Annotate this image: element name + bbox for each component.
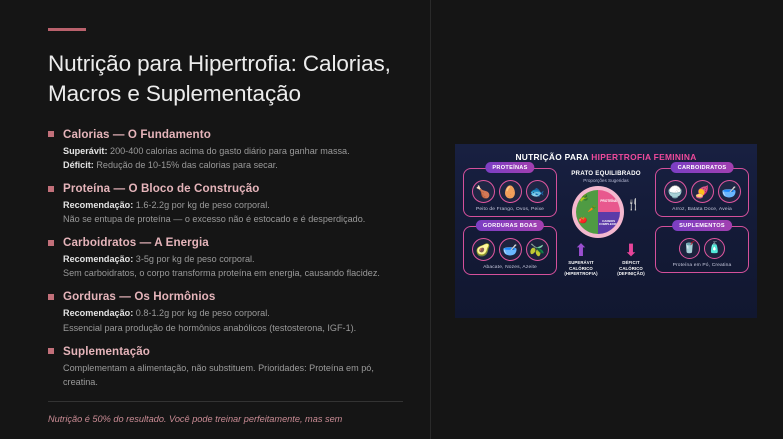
- line-label: Recomendação:: [63, 254, 133, 264]
- section-heading: Gorduras — Os Hormônios: [63, 290, 215, 303]
- line-label: Recomendação:: [63, 308, 133, 318]
- infographic-title-highlight: HIPERTROFIA FEMININA: [591, 152, 696, 162]
- section-body: Complementam a alimentação, não substitu…: [48, 361, 400, 389]
- panel-tag: GORDURAS BOAS: [476, 220, 544, 231]
- panel-caption: Peito de Frango, Ovos, Peixe: [468, 207, 552, 212]
- bullet-square-icon: [48, 240, 54, 246]
- panel-tag: CARBOIDRATOS: [671, 162, 734, 173]
- icon-row: 🍗 🥚 🐟: [468, 180, 552, 203]
- arrow-deficit: ⬇ DÉFICIT CALÓRICO (DEFINIÇÃO): [610, 242, 652, 277]
- panel-caption: Arroz, Batata Doce, Aveia: [660, 207, 744, 212]
- arrow-label: DÉFICIT CALÓRICO (DEFINIÇÃO): [610, 260, 652, 277]
- line-text: Complementam a alimentação, não substitu…: [63, 363, 374, 387]
- arrow-down-icon: ⬇: [610, 242, 652, 259]
- section-line: Déficit: Redução de 10-15% das calorias …: [63, 158, 400, 172]
- infographic-column-center: PRATO EQUILIBRADO Proporções Sugeridas 🥦…: [558, 168, 654, 305]
- footer-quote: Nutrição é 50% do resultado. Você pode t…: [48, 412, 398, 427]
- section-header: Carboidratos — A Energia: [48, 236, 400, 249]
- infographic-column-right: CARBOIDRATOS 🍚 🍠 🥣 Arroz, Batata Doce, A…: [655, 168, 749, 305]
- section-line: Recomendação: 1.6-2.2g por kg de peso co…: [63, 198, 400, 212]
- section-header: Calorias — O Fundamento: [48, 128, 400, 141]
- panel-suplementos: SUPLEMENTOS 🥤 🧴 Proteína em Pó, Creatina: [655, 226, 749, 273]
- footer-divider: [48, 401, 403, 402]
- bullet-square-icon: [48, 348, 54, 354]
- section-line: Não se entupa de proteína — o excesso nã…: [63, 212, 400, 226]
- fork-knife-icon: 🍴: [627, 198, 641, 211]
- section-heading: Carboidratos — A Energia: [63, 236, 209, 249]
- tomato-icon: 🍅: [579, 217, 588, 224]
- line-text: Sem carboidratos, o corpo transforma pro…: [63, 268, 380, 278]
- infographic-column-left: PROTEÍNAS 🍗 🥚 🐟 Peito de Frango, Ovos, P…: [463, 168, 557, 305]
- icon-row: 🍚 🍠 🥣: [660, 180, 744, 203]
- section-line: Superávit: 200-400 calorias acima do gas…: [63, 144, 400, 158]
- section-line: Complementam a alimentação, não substitu…: [63, 361, 400, 389]
- section-gorduras: Gorduras — Os Hormônios Recomendação: 0.…: [48, 290, 400, 334]
- section-heading: Calorias — O Fundamento: [63, 128, 211, 141]
- section-line: Recomendação: 0.8-1.2g por kg de peso co…: [63, 306, 400, 320]
- plate-row: 🥦 🥕 🍅 PROTEÍNA CARBOS COMPLEXOS: [558, 186, 654, 238]
- plate-right: PROTEÍNA CARBOS COMPLEXOS: [598, 190, 620, 234]
- plate-segment-carbs: CARBOS COMPLEXOS: [598, 212, 620, 234]
- slide-root: Nutrição para Hipertrofia: Calorias, Mac…: [0, 0, 783, 439]
- section-calorias: Calorias — O Fundamento Superávit: 200-4…: [48, 128, 400, 172]
- line-text: Não se entupa de proteína — o excesso nã…: [63, 214, 365, 224]
- fish-icon: 🐟: [526, 180, 549, 203]
- panel-tag: SUPLEMENTOS: [672, 220, 732, 231]
- section-body: Recomendação: 3-5g por kg de peso corpor…: [48, 252, 400, 280]
- line-label: Recomendação:: [63, 200, 133, 210]
- infographic-canvas: NUTRIÇÃO PARA HIPERTROFIA FEMININA PROTE…: [455, 144, 757, 318]
- content-column: Nutrição para Hipertrofia: Calorias, Mac…: [0, 0, 430, 439]
- infographic-title: NUTRIÇÃO PARA HIPERTROFIA FEMININA: [455, 152, 757, 162]
- section-carboidratos: Carboidratos — A Energia Recomendação: 3…: [48, 236, 400, 280]
- panel-caption: Proteína em Pó, Creatina: [660, 263, 744, 268]
- panel-gorduras: GORDURAS BOAS 🥑 🥣 🫒 Abacate, Nozes, Azei…: [463, 226, 557, 275]
- line-text: 200-400 calorias acima do gasto diário p…: [107, 146, 349, 156]
- arrow-row: ⬆ SUPERÁVIT CALÓRICO (HIPERTROFIA) ⬇ DÉF…: [558, 242, 654, 277]
- chicken-drumstick-icon: 🍗: [472, 180, 495, 203]
- section-proteina: Proteína — O Bloco de Construção Recomen…: [48, 182, 400, 226]
- line-text: 1.6-2.2g por kg de peso corporal.: [133, 200, 270, 210]
- olive-oil-icon: 🫒: [526, 238, 549, 261]
- arrow-superavit: ⬆ SUPERÁVIT CALÓRICO (HIPERTROFIA): [560, 242, 602, 277]
- plate-subtitle: Proporções Sugeridas: [558, 178, 654, 183]
- section-line: Recomendação: 3-5g por kg de peso corpor…: [63, 252, 400, 266]
- infographic-grid: PROTEÍNAS 🍗 🥚 🐟 Peito de Frango, Ovos, P…: [455, 162, 757, 305]
- section-suplementacao: Suplementação Complementam a alimentação…: [48, 345, 400, 389]
- section-heading: Suplementação: [63, 345, 150, 358]
- section-body: Recomendação: 0.8-1.2g por kg de peso co…: [48, 306, 400, 334]
- panel-proteinas: PROTEÍNAS 🍗 🥚 🐟 Peito de Frango, Ovos, P…: [463, 168, 557, 217]
- page-title: Nutrição para Hipertrofia: Calorias, Mac…: [48, 49, 400, 109]
- icon-row: 🥑 🥣 🫒: [468, 238, 552, 261]
- line-text: Redução de 10-15% das calorias para seca…: [94, 160, 278, 170]
- arrow-label: SUPERÁVIT CALÓRICO (HIPERTROFIA): [560, 260, 602, 277]
- accent-bar: [48, 28, 86, 31]
- line-text: 3-5g por kg de peso corporal.: [133, 254, 254, 264]
- sweet-potato-icon: 🍠: [691, 180, 714, 203]
- nuts-bowl-icon: 🥣: [499, 238, 522, 261]
- section-line: Sem carboidratos, o corpo transforma pro…: [63, 266, 400, 280]
- plate-segment-vegetables: 🥦 🥕 🍅: [576, 190, 598, 234]
- panel-carboidratos: CARBOIDRATOS 🍚 🍠 🥣 Arroz, Batata Doce, A…: [655, 168, 749, 217]
- plate-title: PRATO EQUILIBRADO: [558, 170, 654, 177]
- section-heading: Proteína — O Bloco de Construção: [63, 182, 259, 195]
- section-list: Calorias — O Fundamento Superávit: 200-4…: [48, 128, 400, 389]
- oats-bowl-icon: 🥣: [718, 180, 741, 203]
- infographic-image: NUTRIÇÃO PARA HIPERTROFIA FEMININA PROTE…: [455, 144, 757, 318]
- panel-tag: PROTEÍNAS: [485, 162, 534, 173]
- avocado-icon: 🥑: [472, 238, 495, 261]
- plate-inner: 🥦 🥕 🍅 PROTEÍNA CARBOS COMPLEXOS: [576, 190, 620, 234]
- section-header: Gorduras — Os Hormônios: [48, 290, 400, 303]
- carrot-icon: 🥕: [588, 206, 597, 213]
- broccoli-icon: 🥦: [580, 195, 589, 202]
- rice-bowl-icon: 🍚: [664, 180, 687, 203]
- plate-segment-protein: PROTEÍNA: [598, 190, 620, 212]
- balanced-plate-icon: 🥦 🥕 🍅 PROTEÍNA CARBOS COMPLEXOS: [572, 186, 624, 238]
- line-label: Superávit:: [63, 146, 107, 156]
- line-label: Déficit:: [63, 160, 94, 170]
- bullet-square-icon: [48, 131, 54, 137]
- section-header: Proteína — O Bloco de Construção: [48, 182, 400, 195]
- infographic-title-main: NUTRIÇÃO PARA: [515, 152, 591, 162]
- line-text: Essencial para produção de hormônios ana…: [63, 323, 356, 333]
- panel-caption: Abacate, Nozes, Azeite: [468, 265, 552, 270]
- bullet-square-icon: [48, 186, 54, 192]
- bullet-square-icon: [48, 294, 54, 300]
- creatine-jar-icon: 🧴: [704, 238, 725, 259]
- section-body: Recomendação: 1.6-2.2g por kg de peso co…: [48, 198, 400, 226]
- protein-powder-icon: 🥤: [679, 238, 700, 259]
- section-body: Superávit: 200-400 calorias acima do gas…: [48, 144, 400, 172]
- section-line: Essencial para produção de hormônios ana…: [63, 321, 400, 335]
- eggs-icon: 🥚: [499, 180, 522, 203]
- section-header: Suplementação: [48, 345, 400, 358]
- media-column: NUTRIÇÃO PARA HIPERTROFIA FEMININA PROTE…: [430, 0, 783, 439]
- icon-row: 🥤 🧴: [660, 238, 744, 259]
- arrow-up-icon: ⬆: [560, 242, 602, 259]
- line-text: 0.8-1.2g por kg de peso corporal.: [133, 308, 270, 318]
